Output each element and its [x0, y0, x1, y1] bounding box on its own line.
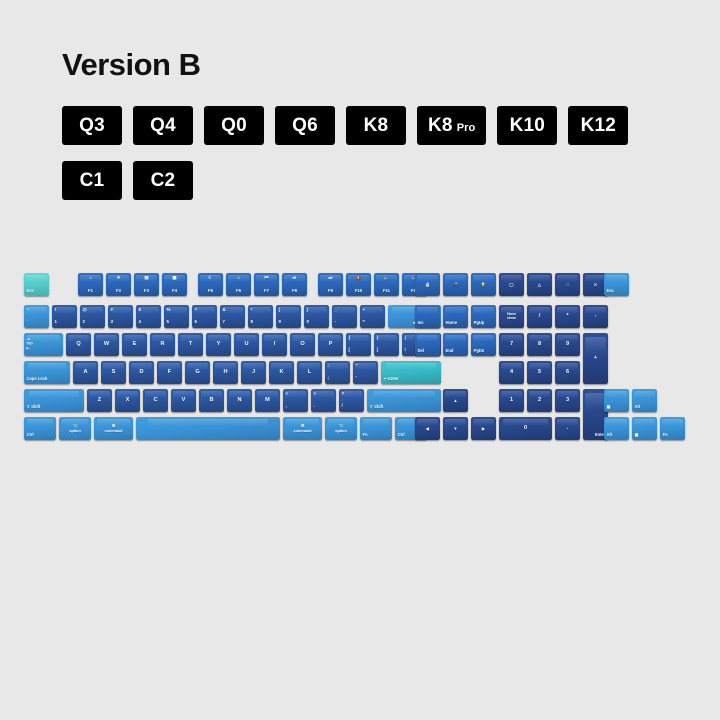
lightbulb-icon: 💡 [471, 282, 496, 286]
compat-badge-label: C2 [151, 161, 176, 200]
keycap-legend: A [73, 370, 98, 376]
compat-badge-q0: Q0 [204, 106, 264, 145]
keycap-1: ! 1 [52, 305, 77, 328]
compat-badge-c1: C1 [62, 161, 122, 200]
keycap-legend: Esc [27, 289, 34, 293]
enter-arrow-icon: ↵ [384, 376, 387, 381]
keycap-legend-upper: | [405, 336, 406, 340]
next-track-icon: ⏭ [318, 276, 343, 281]
keycap-u: U [234, 333, 259, 356]
keycap-numpad-circle: ◯ [499, 273, 524, 296]
keycap-legend: F1 [78, 289, 103, 293]
arrow-right-icon: ▶ [471, 426, 496, 430]
screenshot-icon: ⎙ [415, 282, 440, 286]
keycap-extra-alt-right: Alt [604, 417, 629, 440]
keycap-legend-upper: " [356, 364, 358, 368]
keycap-legend-upper: % [167, 308, 171, 312]
keycap-legend: H [213, 370, 238, 376]
keycap-legend-upper: + [363, 308, 366, 312]
keycap-legend-lower: 6 [195, 320, 197, 324]
keycap-0: ) 0 [304, 305, 329, 328]
arrow-up-icon: ▲ [443, 398, 468, 402]
compat-badge-k12: K12 [568, 106, 628, 145]
keycap-legend: 4 [499, 370, 524, 376]
keycap-f1: ☼ F1 [78, 273, 103, 296]
keycap-lshift: ⇧ Shift [24, 389, 84, 412]
keycap-legend: G [185, 370, 210, 376]
keycap-numpad-square: □ [555, 273, 580, 296]
keycap-legend: + [583, 356, 608, 362]
keycap-legend: N [227, 398, 252, 404]
keycap-minus: _ - [332, 305, 357, 328]
keycap-legend: E [122, 342, 147, 348]
keycap-5: % 5 [164, 305, 189, 328]
keycap-slash: ? / [339, 389, 364, 412]
keycap-legend: ⌥ option [325, 423, 357, 433]
keycap-legend-lower: 0 [307, 320, 309, 324]
keycap-f3: ▤ F3 [134, 273, 159, 296]
keycap-legend: Home [446, 321, 457, 325]
keycap-legend-upper: ) [307, 308, 308, 312]
keycap-legend: Del [418, 349, 424, 353]
compat-badge-label: Q3 [79, 106, 105, 145]
keycap-legend: ⌘ command [283, 423, 322, 433]
keycap-lbracket: { [ [346, 333, 371, 356]
triangle-icon: △ [527, 282, 552, 286]
keycap-g: G [185, 361, 210, 384]
keycap-3: # 3 [108, 305, 133, 328]
keycap-legend: 0 [499, 426, 552, 432]
compat-badge-k10: K10 [497, 106, 557, 145]
keycap-a: A [73, 361, 98, 384]
keycap-f9: ⏭ F9 [318, 273, 343, 296]
keycap-legend: D [129, 370, 154, 376]
keycap-legend: Ins [418, 321, 424, 325]
keycap-s: S [101, 361, 126, 384]
keycap-legend-upper: ? [342, 392, 345, 396]
keycap-grave: ~ ` [24, 305, 49, 328]
keycap-legend-lower: ' [356, 376, 357, 380]
keycap-legend: Alt [635, 405, 640, 409]
keycap-legend: C [143, 398, 168, 404]
shift-arrow-icon: ⇧ [370, 404, 373, 409]
keycap-legend: 9 [555, 342, 580, 348]
keycap-legend-upper: _ [335, 308, 337, 312]
keycap-legend: Ctrl [27, 433, 34, 437]
keycap-legend: PgDn [474, 349, 485, 353]
keycap-legend: Alt [607, 433, 612, 437]
keycap-extra-esc: Esc [604, 273, 629, 296]
keycap-quote: " ' [353, 361, 378, 384]
arrow-down-icon: ▼ [443, 426, 468, 430]
keycap-legend: F5 [198, 289, 223, 293]
keycap-rshift: ⇧ Shift [367, 389, 441, 412]
brightness-up-icon: ☀ [106, 276, 131, 281]
keycap-lcommand: ⌘ command [94, 417, 133, 440]
keycap-legend: 5 [527, 370, 552, 376]
keycap-legend: 1 [499, 398, 524, 404]
keycap-numpad-triangle: △ [527, 273, 552, 296]
keycap-extra-win-right: ▦ [632, 417, 657, 440]
keycap-ins: Ins [415, 305, 440, 328]
keycap-k: K [269, 361, 294, 384]
compat-badge-q3: Q3 [62, 106, 122, 145]
compat-badge-label: K8 [428, 106, 453, 145]
keycap-legend-lower: . [314, 404, 315, 408]
keycap-legend-upper: @ [83, 308, 87, 312]
shift-arrow-icon: ⇧ [27, 404, 30, 409]
keycap-numpad-plus: + [583, 333, 608, 384]
keycap-end: End [443, 333, 468, 356]
keycap-numpad-divide: / [527, 305, 552, 328]
keycap-numpad-7: 7 [499, 333, 524, 356]
launchpad-icon: ▦ [162, 276, 187, 281]
keycap-numpad-multiply: * [555, 305, 580, 328]
keycap-legend: F7 [254, 289, 279, 293]
keycap-f: F [157, 361, 182, 384]
keycap-legend: F9 [318, 289, 343, 293]
keycap-legend: F [157, 370, 182, 376]
keycap-legend: ⇥ Tab ⇤ [26, 337, 32, 352]
mission-control-icon: ▤ [134, 276, 159, 281]
keycap-legend: * [555, 314, 580, 320]
keycap-period: > . [311, 389, 336, 412]
keycap-legend: ⌘ command [94, 423, 133, 433]
keycap-m: M [255, 389, 280, 412]
keycap-legend-lower: 5 [167, 320, 169, 324]
keycap-legend: B [199, 398, 224, 404]
keycap-legend: F3 [134, 289, 159, 293]
page-title: Version B [62, 48, 201, 82]
keycap-y: Y [206, 333, 231, 356]
compat-badge-sublabel: Pro [457, 109, 476, 148]
windows-icon: ▦ [607, 405, 611, 409]
keycap-q: Q [66, 333, 91, 356]
compat-badge-label: Q4 [150, 106, 176, 145]
keycap-legend: Caps Lock [27, 377, 48, 381]
play-pause-icon: ⏯ [282, 276, 307, 281]
keycap-legend-lower: 8 [251, 320, 253, 324]
keycap-i: I [262, 333, 287, 356]
keycap-p: P [318, 333, 343, 356]
compat-badge-label: K10 [510, 106, 545, 145]
windows-icon: ▦ [635, 433, 639, 437]
keycap-legend-lower: ] [377, 348, 378, 352]
keycap-4: $ 4 [136, 305, 161, 328]
keycap-legend: ⇧ Shift [27, 405, 41, 409]
keycap-legend: M [255, 398, 280, 404]
keycap-legend-upper: : [328, 364, 329, 368]
keycap-pgup: PgUp [471, 305, 496, 328]
microphone-icon: 🎤 [443, 282, 468, 286]
keycap-arrow-up: ▲ [443, 389, 468, 412]
keycap-pgdn: PgDn [471, 333, 496, 356]
keycap-z: Z [87, 389, 112, 412]
keycap-fn: Fn [360, 417, 392, 440]
keycap-f7: ⏮ F7 [254, 273, 279, 296]
keycap-tab: ⇥ Tab ⇤ [24, 333, 63, 356]
keycap-legend-lower: \ [405, 348, 406, 352]
keycap-numpad-9: 9 [555, 333, 580, 356]
keycap-legend-lower: 4 [139, 320, 141, 324]
keycap-legend-lower: 9 [279, 320, 281, 324]
keycap-comma: < , [283, 389, 308, 412]
compat-badge-label: K12 [581, 106, 616, 145]
keycap-legend-lower: = [363, 320, 366, 324]
keycap-v: V [171, 389, 196, 412]
keycap-legend-lower: [ [349, 348, 350, 352]
square-icon: □ [555, 282, 580, 286]
keycap-legend-upper: ! [55, 308, 56, 312]
compat-badge-label: Q0 [221, 106, 247, 145]
keycap-numclear: Num clear [499, 305, 524, 328]
keycap-legend-upper: # [111, 308, 113, 312]
compat-badge-c2: C2 [133, 161, 193, 200]
keycap-legend-upper: & [223, 308, 226, 312]
keycap-legend: 7 [499, 342, 524, 348]
volume-down-icon: 🔈 [374, 276, 399, 281]
keycap-numpad-4: 4 [499, 361, 524, 384]
keycap-legend: Num clear [499, 312, 524, 322]
keycap-extra-alt-left: Alt [632, 389, 657, 412]
keycap-legend: F11 [374, 289, 399, 293]
compat-badge-q4: Q4 [133, 106, 193, 145]
keycap-equal: + = [360, 305, 385, 328]
keycap-legend-upper: < [286, 392, 289, 396]
keycap-o: O [290, 333, 315, 356]
keycap-legend-lower: ; [328, 376, 329, 380]
keycap-t: T [178, 333, 203, 356]
keycap-legend: L [297, 370, 322, 376]
keycap-legend: Y [206, 342, 231, 348]
keycap-8: * 8 [248, 305, 273, 328]
keycap-legend: I [262, 342, 287, 348]
keycap-extra-fn: Fn [660, 417, 685, 440]
keycap-set-layout: Esc ☼ F1 ☀ F2 ▤ F3 ▦ F4 ☾ F5 ☼ F6 ⏮ F7 ⏯… [0, 262, 720, 452]
keycap-n: N [227, 389, 252, 412]
keycap-legend: 2 [527, 398, 552, 404]
keycap-numpad-8: 8 [527, 333, 552, 356]
compatibility-badge-row-1: Q3 Q4 Q0 Q6 K8 K8 Pro K10 K12 [62, 106, 628, 145]
keycap-legend-upper: { [349, 336, 351, 340]
keycap-legend-lower: 7 [223, 320, 225, 324]
keycap-nav-screenshot: ⎙ [415, 273, 440, 296]
keycap-del: Del [415, 333, 440, 356]
keycap-legend: F2 [106, 289, 131, 293]
keycap-enter: ↵ Enter [381, 361, 441, 384]
keycap-numpad-minus: - [583, 305, 608, 328]
keyboard-backlight-up-icon: ☼ [226, 276, 251, 281]
keycap-legend: F8 [282, 289, 307, 293]
keycap-extra-win-left: ▦ [604, 389, 629, 412]
keycap-nav-lightbulb: 💡 [471, 273, 496, 296]
keycap-legend-lower: 3 [111, 320, 113, 324]
keycap-2: @ 2 [80, 305, 105, 328]
keycap-legend-lower: ` [27, 320, 28, 324]
keyboard-backlight-down-icon: ☾ [198, 276, 223, 281]
keycap-f8: ⏯ F8 [282, 273, 307, 296]
keycap-legend: Z [87, 398, 112, 404]
keycap-e: E [122, 333, 147, 356]
keycap-numpad-6: 6 [555, 361, 580, 384]
keycap-legend: ⌥ option [59, 423, 91, 433]
compatibility-badge-row-2: C1 C2 [62, 161, 193, 200]
keycap-legend: F10 [346, 289, 371, 293]
keycap-legend: / [527, 314, 552, 320]
keycap-legend: PgUp [474, 321, 485, 325]
keycap-rbracket: } ] [374, 333, 399, 356]
arrow-left-icon: ◀ [415, 426, 440, 430]
keycap-legend: K [269, 370, 294, 376]
keycap-legend-upper: $ [139, 308, 141, 312]
keycap-d: D [129, 361, 154, 384]
keycap-legend: W [94, 342, 119, 348]
keycap-nav-microphone: 🎤 [443, 273, 468, 296]
keycap-legend: - [583, 314, 608, 320]
keycap-arrow-down: ▼ [443, 417, 468, 440]
brightness-down-icon: ☼ [78, 276, 103, 281]
keycap-f4: ▦ F4 [162, 273, 187, 296]
keycap-legend: Fn [363, 433, 368, 437]
keycap-f5: ☾ F5 [198, 273, 223, 296]
keycap-legend: . [555, 426, 580, 432]
keycap-legend: J [241, 370, 266, 376]
keycap-legend: Esc [607, 289, 614, 293]
keycap-h: H [213, 361, 238, 384]
keycap-numpad-0: 0 [499, 417, 552, 440]
keycap-legend-upper: ~ [27, 308, 30, 312]
keycap-w: W [94, 333, 119, 356]
keycap-legend-lower: - [335, 320, 336, 324]
keycap-9: ( 9 [276, 305, 301, 328]
compat-badge-label: C1 [80, 161, 105, 200]
keycap-legend: 8 [527, 342, 552, 348]
keycap-r: R [150, 333, 175, 356]
keycap-semicolon: : ; [325, 361, 350, 384]
compat-badge-k8-pro: K8 Pro [417, 106, 486, 145]
keycap-space [136, 417, 280, 440]
keycap-legend-upper: } [377, 336, 379, 340]
keycap-l: L [297, 361, 322, 384]
keycap-legend: V [171, 398, 196, 404]
keycap-legend: ⇧ Shift [370, 405, 384, 409]
keycap-legend: P [318, 342, 343, 348]
previous-track-icon: ⏮ [254, 276, 279, 281]
keycap-legend: O [290, 342, 315, 348]
keycap-numpad-2: 2 [527, 389, 552, 412]
keycap-f2: ☀ F2 [106, 273, 131, 296]
keycap-legend: R [150, 342, 175, 348]
keycap-7: & 7 [220, 305, 245, 328]
keycap-capslock: Caps Lock [24, 361, 70, 384]
mute-icon: 🔇 [346, 276, 371, 281]
keycap-legend: 6 [555, 370, 580, 376]
keycap-legend: U [234, 342, 259, 348]
keycap-6: ^ 6 [192, 305, 217, 328]
keycap-numpad-dot: . [555, 417, 580, 440]
keycap-legend: F6 [226, 289, 251, 293]
keycap-esc: Esc [24, 273, 49, 296]
keycap-home: Home [443, 305, 468, 328]
compat-badge-label: K8 [364, 106, 389, 145]
keycap-arrow-right: ▶ [471, 417, 496, 440]
keycap-legend: End [446, 349, 454, 353]
keycap-legend-lower: 2 [83, 320, 85, 324]
keycap-f6: ☼ F6 [226, 273, 251, 296]
keycap-f11: 🔈 F11 [374, 273, 399, 296]
keycap-numpad-1: 1 [499, 389, 524, 412]
keycap-legend-lower: 1 [55, 320, 57, 324]
keycap-c: C [143, 389, 168, 412]
keycap-legend: Ctrl [398, 433, 405, 437]
keycap-legend-lower: / [342, 404, 343, 408]
keycap-loption: ⌥ option [59, 417, 91, 440]
keycap-f10: 🔇 F10 [346, 273, 371, 296]
keycap-b: B [199, 389, 224, 412]
keycap-legend-upper: > [314, 392, 317, 396]
keycap-arrow-left: ◀ [415, 417, 440, 440]
keycap-legend: ↵ Enter [384, 377, 399, 381]
compat-badge-q6: Q6 [275, 106, 335, 145]
keycap-legend-lower: , [286, 404, 287, 408]
keycap-numpad-3: 3 [555, 389, 580, 412]
keycap-legend: X [115, 398, 140, 404]
keycap-lctrl: Ctrl [24, 417, 56, 440]
keycap-legend-upper: * [251, 308, 253, 312]
keycap-numpad-5: 5 [527, 361, 552, 384]
keycap-legend: 3 [555, 398, 580, 404]
keycap-legend-upper: ^ [195, 308, 198, 312]
keycap-rcommand: ⌘ command [283, 417, 322, 440]
keycap-roption: ⌥ option [325, 417, 357, 440]
keycap-legend: Q [66, 342, 91, 348]
compat-badge-k8: K8 [346, 106, 406, 145]
keycap-legend: T [178, 342, 203, 348]
keycap-legend-upper: ( [279, 308, 280, 312]
keycap-legend: Fn [663, 433, 668, 437]
keycap-legend: S [101, 370, 126, 376]
circle-icon: ◯ [499, 282, 524, 286]
compat-badge-label: Q6 [292, 106, 318, 145]
keycap-legend: F4 [162, 289, 187, 293]
keycap-x: X [115, 389, 140, 412]
keycap-j: J [241, 361, 266, 384]
